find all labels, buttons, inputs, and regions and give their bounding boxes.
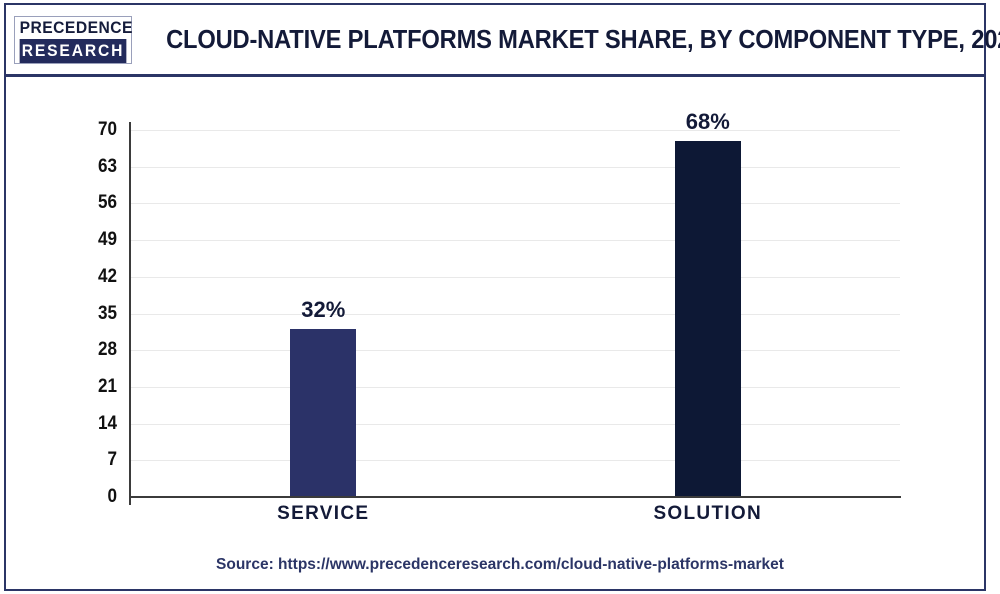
y-axis-tick-label: 42 <box>27 266 117 288</box>
chart-header: PRECEDENCE RESEARCH CLOUD-NATIVE PLATFOR… <box>6 5 984 75</box>
bar-value-label: 68% <box>686 109 730 135</box>
plot-area: 07142128354249566370 32%68% SERVICESOLUT… <box>0 78 1000 594</box>
bar-fill <box>675 141 741 498</box>
gridline <box>131 240 900 241</box>
header-divider <box>6 74 984 77</box>
gridline <box>131 167 900 168</box>
gridline <box>131 277 900 278</box>
bar-value-label: 32% <box>301 297 345 323</box>
gridline <box>131 350 900 351</box>
source-note: Source: https://www.precedenceresearch.c… <box>0 556 1000 574</box>
y-axis-tick-label: 35 <box>27 303 117 325</box>
gridline <box>131 203 900 204</box>
gridline <box>131 424 900 425</box>
y-axis-tick-label: 0 <box>27 486 117 508</box>
category-label-solution: SOLUTION <box>653 503 762 525</box>
bar-fill <box>290 329 356 497</box>
y-axis-tick-label: 70 <box>27 119 117 141</box>
y-axis-tick-label: 63 <box>27 156 117 178</box>
gridline <box>131 130 900 131</box>
bar-service[interactable]: 32% <box>290 329 356 497</box>
logo-line-precedence: PRECEDENCE <box>20 17 127 39</box>
chart-figure: PRECEDENCE RESEARCH CLOUD-NATIVE PLATFOR… <box>0 0 1000 594</box>
y-axis-tick-label: 14 <box>27 413 117 435</box>
y-axis-tick-label: 56 <box>27 192 117 214</box>
y-axis-line <box>129 122 131 505</box>
bar-solution[interactable]: 68% <box>675 141 741 498</box>
gridline <box>131 387 900 388</box>
plot-canvas: 32%68% <box>131 130 900 497</box>
gridline <box>131 314 900 315</box>
chart-title: CLOUD-NATIVE PLATFORMS MARKET SHARE, BY … <box>166 26 1000 55</box>
gridline <box>131 460 900 461</box>
y-axis-tick-label: 49 <box>27 229 117 251</box>
y-axis-tick-label: 21 <box>27 376 117 398</box>
precedence-research-logo: PRECEDENCE RESEARCH <box>14 16 132 64</box>
logo-line-research: RESEARCH <box>20 39 127 63</box>
x-axis-line <box>129 496 901 498</box>
category-label-service: SERVICE <box>277 503 369 525</box>
y-axis-tick-label: 7 <box>27 449 117 471</box>
y-axis-tick-labels: 07142128354249566370 <box>17 130 117 497</box>
y-axis-tick-label: 28 <box>27 339 117 361</box>
